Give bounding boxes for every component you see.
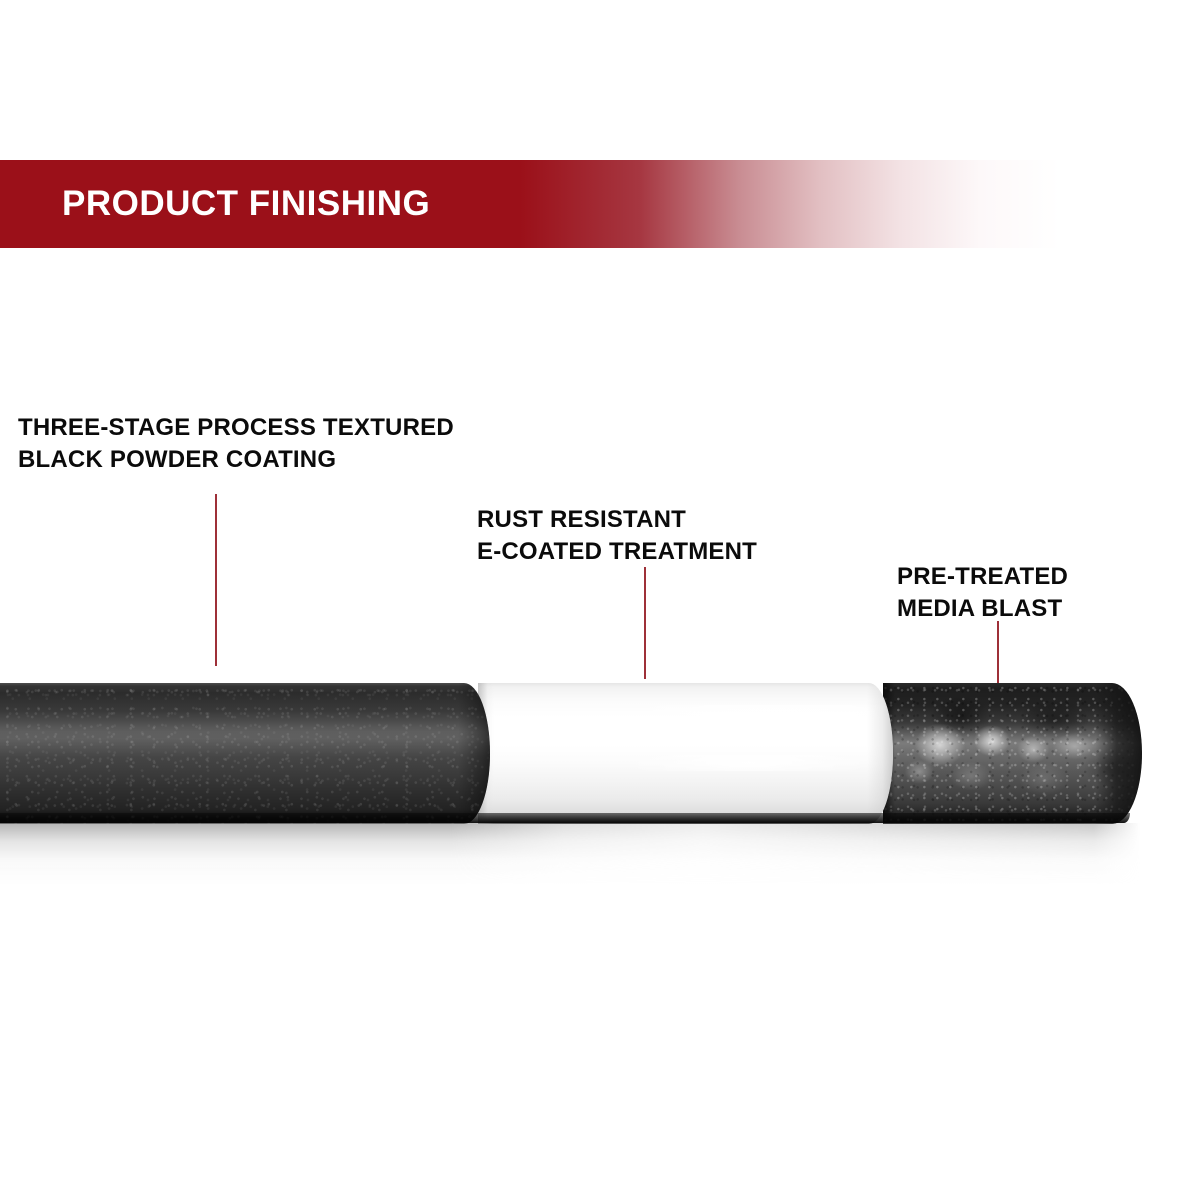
header-banner: PRODUCT FINISHING (0, 160, 1200, 248)
e-coat-secondary-highlight (603, 755, 869, 771)
tube-floor-reflection (0, 823, 1140, 887)
callout-powder-coating-line2: BLACK POWDER COATING (18, 444, 454, 476)
tube-segment-white-e-coat (478, 683, 893, 824)
leader-line-media-blast (997, 621, 999, 683)
tube-segment-black-powder-coat (0, 683, 490, 824)
callout-media-blast-line2: MEDIA BLAST (897, 593, 1068, 625)
callout-e-coat: RUST RESISTANT E-COATED TREATMENT (477, 504, 757, 567)
leader-line-powder-coating (215, 494, 217, 666)
powder-coat-sheen (0, 711, 490, 757)
leader-line-e-coat (644, 567, 646, 679)
tube-segment-media-blast-steel (883, 683, 1142, 824)
callout-media-blast-line1: PRE-TREATED (897, 563, 1068, 590)
callout-powder-coating-line1: THREE-STAGE PROCESS TEXTURED (18, 414, 454, 441)
e-coat-specular-highlight (503, 705, 885, 735)
tube-bottom-lip (0, 813, 1130, 823)
callout-e-coat-line1: RUST RESISTANT (477, 506, 686, 533)
callout-e-coat-line2: E-COATED TREATMENT (477, 536, 757, 568)
page-title: PRODUCT FINISHING (62, 184, 430, 224)
callout-powder-coating: THREE-STAGE PROCESS TEXTURED BLACK POWDE… (18, 412, 454, 475)
product-tube-graphic (0, 683, 1142, 824)
infographic-canvas: PRODUCT FINISHING THREE-STAGE PROCESS TE… (0, 0, 1200, 1200)
callout-media-blast: PRE-TREATED MEDIA BLAST (897, 561, 1068, 624)
